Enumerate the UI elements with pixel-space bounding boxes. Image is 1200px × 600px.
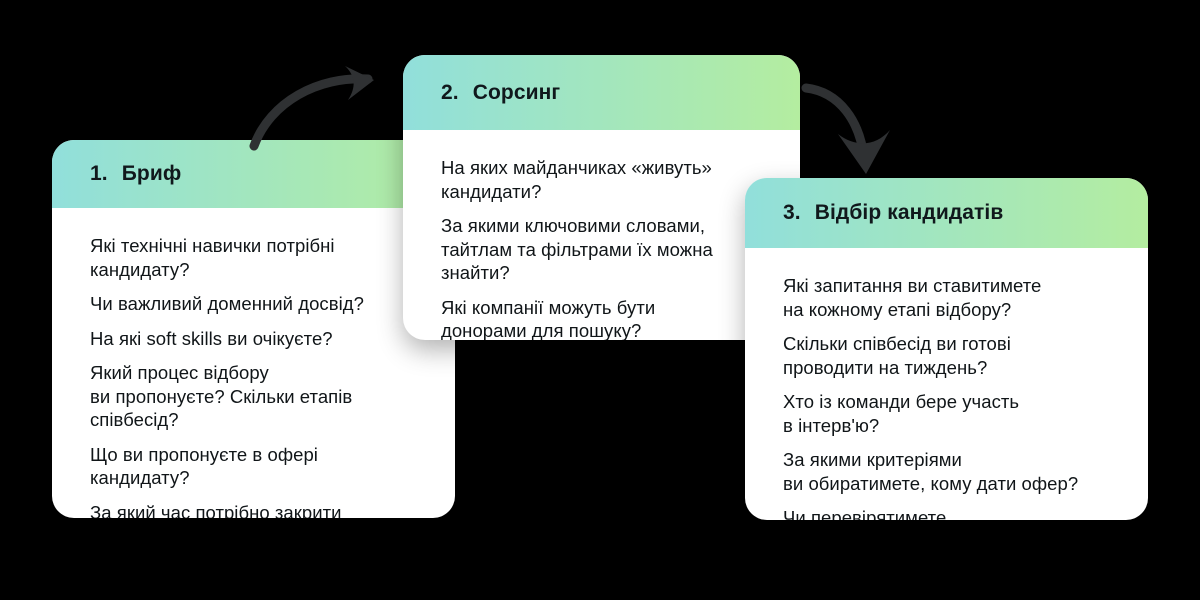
step-card-brief[interactable]: 1. Бриф Які технічні навички потрібні ка… (52, 140, 455, 518)
card-number-3: 3. (783, 201, 801, 225)
question-item: Які компанії можуть бути донорами для по… (441, 296, 770, 341)
question-item: За якими ключовими словами, тайтлам та ф… (441, 214, 770, 285)
question-item: Який процес відбору ви пропонуєте? Скіль… (90, 361, 425, 432)
card-body-2: На яких майданчиках «живуть» кандидати? … (403, 130, 800, 340)
card-header-1: 1. Бриф (52, 140, 455, 208)
question-item: Хто із команди бере участь в інтерв'ю? (783, 390, 1118, 437)
step-card-candidate-selection[interactable]: 3. Відбір кандидатів Які запитання ви ст… (745, 178, 1148, 520)
question-item: Чи важливий доменний досвід? (90, 292, 425, 316)
question-item: Які запитання ви ставитимете на кожному … (783, 274, 1118, 321)
card-body-1: Які технічні навички потрібні кандидату?… (52, 208, 455, 518)
question-item: Чи перевірятимете ви рекомендації кандид… (783, 506, 1118, 520)
arrow-card2-to-card3-icon (798, 78, 913, 193)
card-body-3: Які запитання ви ставитимете на кожному … (745, 248, 1148, 520)
question-item: Скільки співбесід ви готові проводити на… (783, 332, 1118, 379)
card-header-2: 2. Сорсинг (403, 55, 800, 130)
question-item: Що ви пропонуєте в офері кандидату? (90, 443, 425, 490)
card-title-3: Відбір кандидатів (815, 201, 1004, 225)
step-card-sourcing[interactable]: 2. Сорсинг На яких майданчиках «живуть» … (403, 55, 800, 340)
question-item: На яких майданчиках «живуть» кандидати? (441, 156, 770, 203)
card-title-1: Бриф (122, 162, 182, 186)
card-number-2: 2. (441, 81, 459, 105)
question-item: За якими критеріями ви обиратимете, кому… (783, 448, 1118, 495)
question-item: Які технічні навички потрібні кандидату? (90, 234, 425, 281)
arrow-card1-to-card2-icon (248, 62, 418, 152)
card-title-2: Сорсинг (473, 81, 561, 105)
card-header-3: 3. Відбір кандидатів (745, 178, 1148, 248)
question-item: За який час потрібно закрити вакансію? (90, 501, 425, 519)
card-number-1: 1. (90, 162, 108, 186)
diagram-canvas: 1. Бриф Які технічні навички потрібні ка… (0, 0, 1200, 600)
question-item: На які soft skills ви очікуєте? (90, 327, 425, 351)
